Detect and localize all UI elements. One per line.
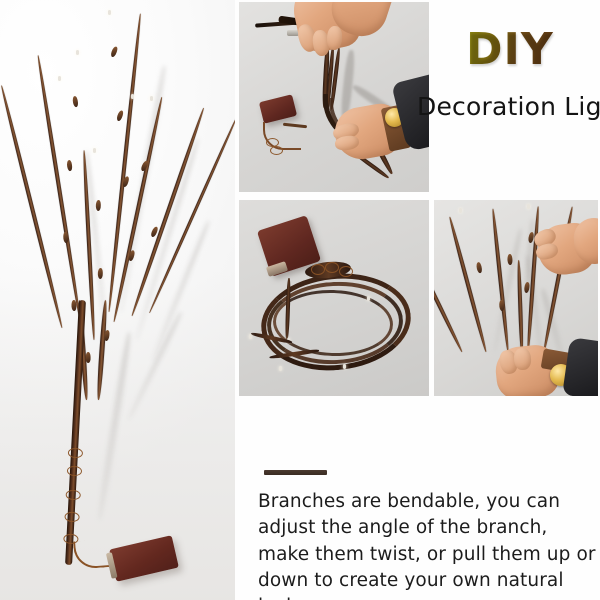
branch-stem <box>434 223 464 352</box>
led-tip <box>93 148 96 153</box>
led-tip <box>343 364 346 369</box>
wire-coil <box>325 262 339 273</box>
led-tip <box>279 366 282 371</box>
panel-coiled-product-view <box>239 200 429 396</box>
section-divider <box>264 470 327 475</box>
battery-box <box>259 94 297 124</box>
led-tip <box>108 10 111 15</box>
headline-decoration-light: Decoration Light <box>417 92 600 121</box>
sleeve <box>562 337 598 396</box>
product-collage: DIY DIY Decoration Light Branches are be… <box>0 0 600 600</box>
led-tip <box>527 204 530 209</box>
panel-bending-branches-demo <box>239 2 429 192</box>
wire-coil <box>339 266 353 277</box>
headline-diy: DIY <box>466 28 554 72</box>
panel-branch-light-full-view <box>0 0 235 600</box>
led-tip <box>76 50 79 55</box>
led-bud <box>110 46 118 58</box>
led-bud <box>524 282 530 293</box>
wire-coil <box>270 146 283 155</box>
led-bud <box>96 200 101 211</box>
led-tip <box>150 96 153 101</box>
led-tip <box>131 94 134 99</box>
wire-coil <box>311 264 325 275</box>
led-tip <box>367 296 370 301</box>
led-tip <box>459 208 462 213</box>
led-bud <box>116 110 124 122</box>
led-bud <box>475 262 483 274</box>
led-bud <box>72 96 79 108</box>
led-bud <box>66 160 73 172</box>
finger <box>513 347 531 370</box>
panel-arranging-branches-demo <box>434 200 598 396</box>
product-description: Branches are bendable, you can adjust th… <box>258 489 598 600</box>
led-tip <box>249 334 252 339</box>
led-tip <box>58 76 61 81</box>
